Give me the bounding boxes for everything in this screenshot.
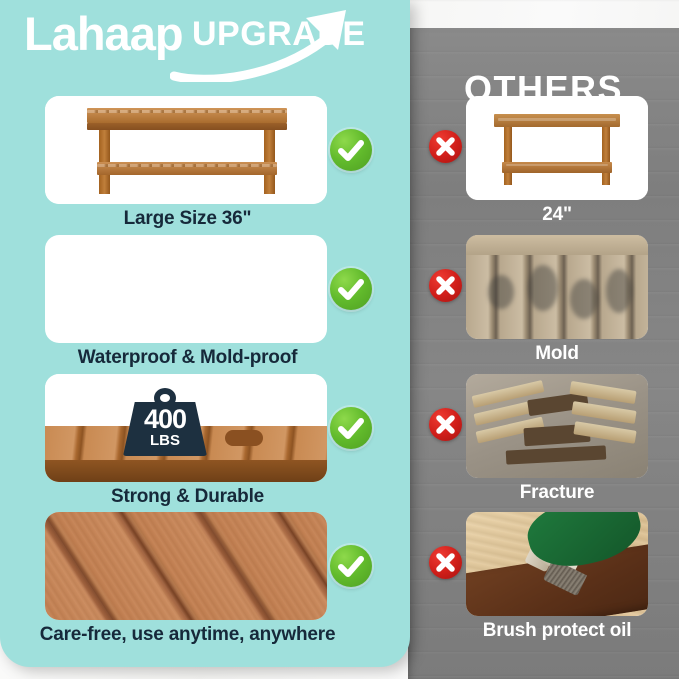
pro-label-4: Care-free, use anytime, anywhere bbox=[0, 624, 375, 646]
con-image-card-1 bbox=[466, 96, 648, 200]
brand-panel: Lahaap UPGRADE bbox=[0, 0, 410, 667]
upgrade-label: UPGRADE bbox=[192, 17, 366, 51]
cross-icon bbox=[429, 269, 462, 302]
comparison-infographic: OTHERS 24" bbox=[0, 0, 679, 679]
small-wooden-bench-image bbox=[466, 96, 648, 200]
pro-image-card-2 bbox=[45, 235, 327, 343]
cross-icon bbox=[429, 408, 462, 441]
check-icon bbox=[330, 407, 372, 449]
check-icon bbox=[330, 268, 372, 310]
brand-logo: Lahaap bbox=[24, 10, 183, 57]
check-icon bbox=[330, 545, 372, 587]
con-image-card-2 bbox=[466, 235, 648, 339]
moldy-weathered-slats-image bbox=[466, 235, 648, 339]
pro-label-1: Large Size 36" bbox=[0, 208, 375, 230]
weight-value: 400 bbox=[123, 406, 207, 433]
dry-deck-grain-image bbox=[45, 512, 327, 620]
con-label-1: 24" bbox=[446, 204, 668, 226]
wet-deck-droplets-image bbox=[45, 235, 327, 343]
con-image-card-3 bbox=[466, 374, 648, 478]
gloved-hand-brushing-oil-image bbox=[466, 512, 648, 616]
check-icon bbox=[330, 129, 372, 171]
brand-header: Lahaap UPGRADE bbox=[0, 0, 410, 88]
pro-label-3: Strong & Durable bbox=[0, 486, 375, 508]
wooden-bench-large-image bbox=[45, 96, 327, 204]
con-label-3: Fracture bbox=[446, 482, 668, 504]
deck-top-image: 400 LBS bbox=[45, 374, 327, 482]
cross-icon bbox=[429, 546, 462, 579]
broken-bench-image bbox=[466, 374, 648, 478]
con-label-2: Mold bbox=[446, 343, 668, 365]
con-image-card-4 bbox=[466, 512, 648, 616]
weight-unit: LBS bbox=[123, 433, 207, 448]
weight-badge: 400 LBS bbox=[123, 388, 207, 456]
pro-label-2: Waterproof & Mold-proof bbox=[0, 347, 375, 369]
con-label-4: Brush protect oil bbox=[446, 620, 668, 642]
pro-image-card-3: 400 LBS bbox=[45, 374, 327, 482]
pro-image-card-4 bbox=[45, 512, 327, 620]
water-droplets bbox=[45, 235, 327, 343]
cross-icon bbox=[429, 130, 462, 163]
pro-image-card-1 bbox=[45, 96, 327, 204]
